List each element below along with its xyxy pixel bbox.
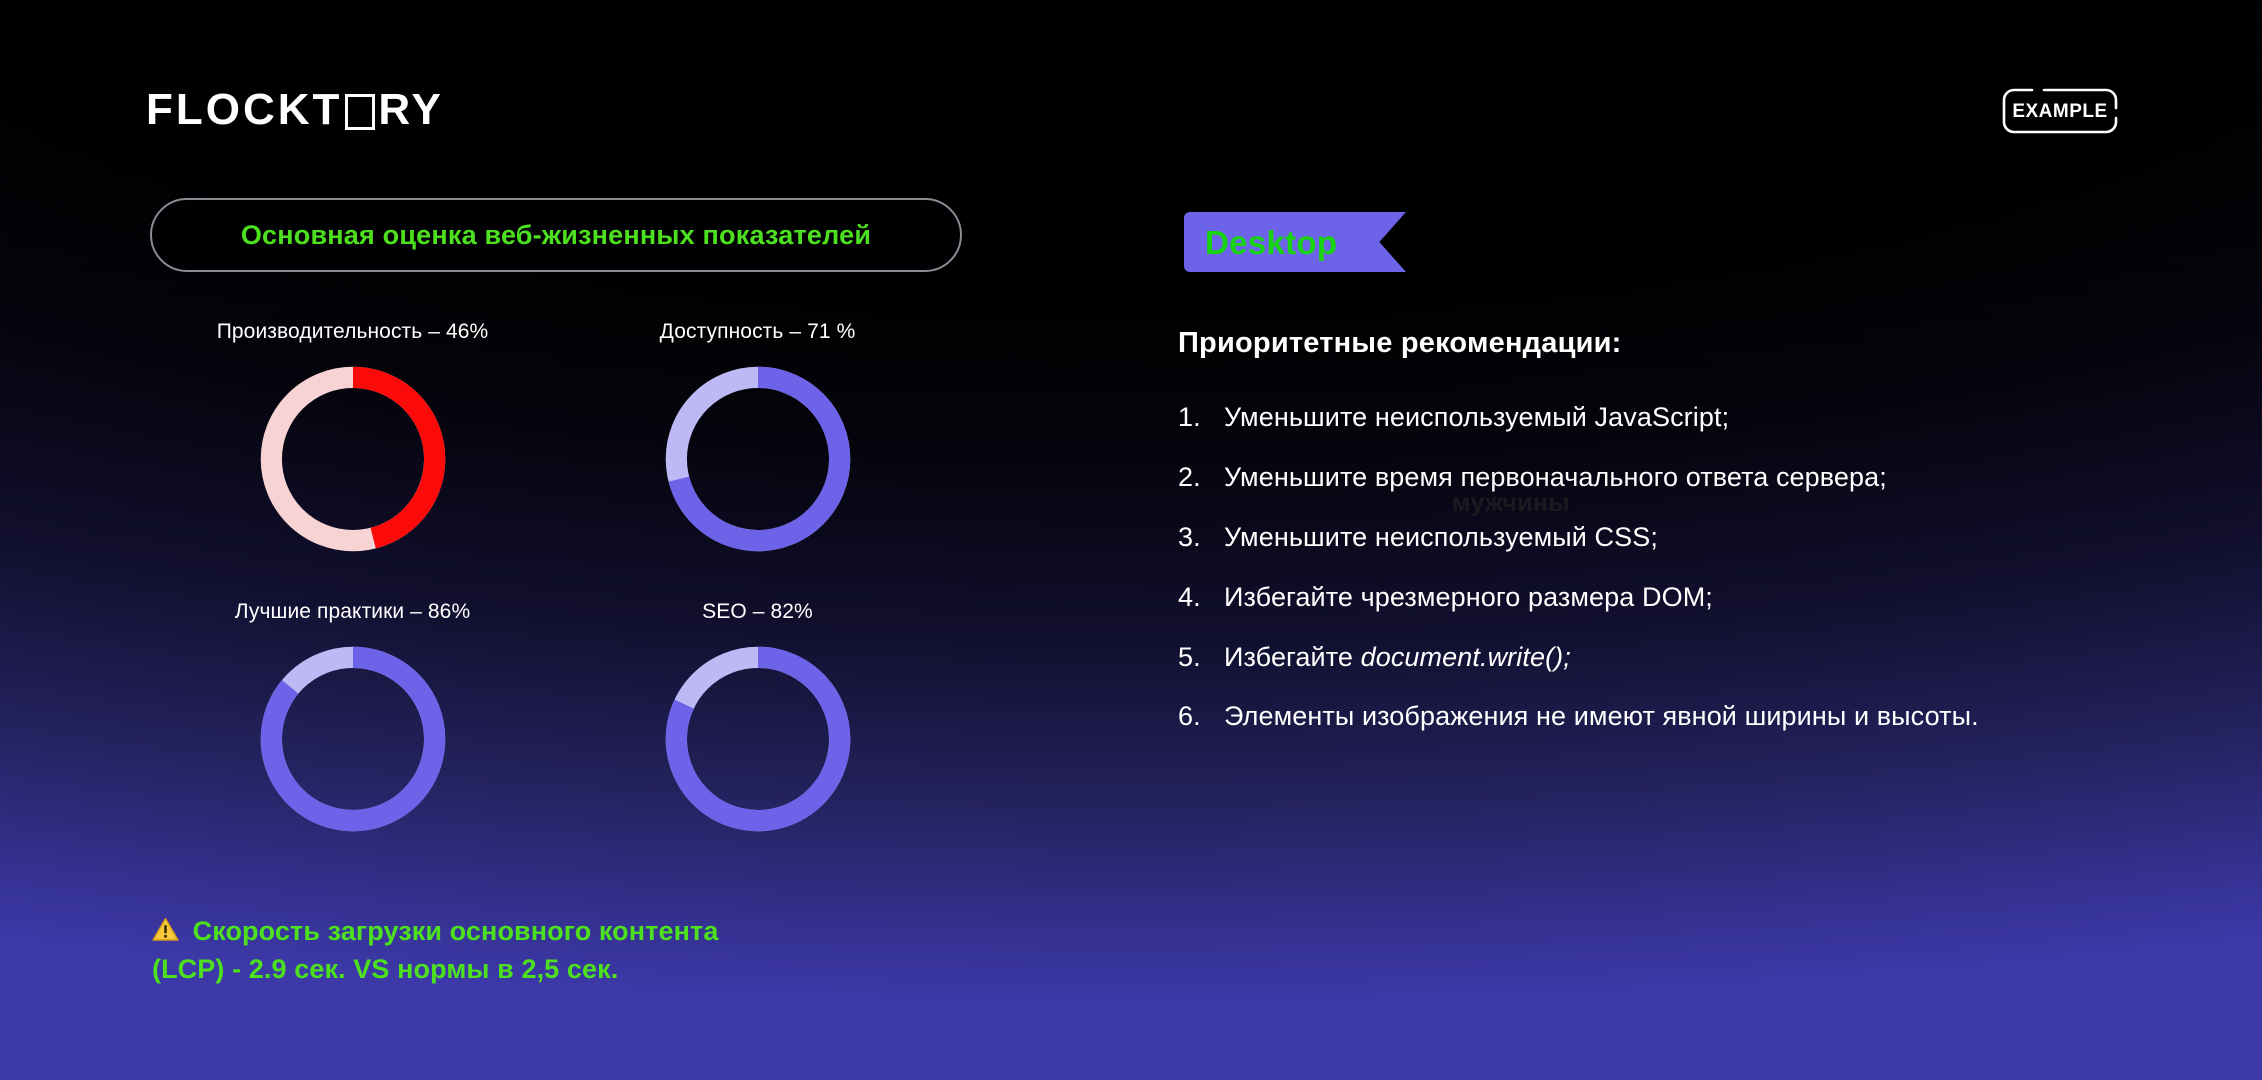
recommendation-number: 3. xyxy=(1178,518,1224,557)
metrics-row-top: Производительность – 46% Доступность – 7… xyxy=(150,320,960,557)
metric-label-accessibility: Доступность – 71 % xyxy=(660,320,856,344)
platform-badge-desktop: Desktop xyxy=(1184,212,1406,272)
flocktory-logo: FLOCKT RY xyxy=(146,88,444,132)
recommendations-heading: Приоритетные рекомендации: xyxy=(1178,327,1622,360)
logo-text-part1: FLOCKT xyxy=(146,88,342,132)
recommendation-text-plain: Уменьшите неиспользуемый CSS; xyxy=(1224,522,1658,552)
example-badge: EXAMPLE xyxy=(2002,88,2118,134)
warning-triangle-glyph xyxy=(152,917,179,942)
example-badge-label: EXAMPLE xyxy=(2012,102,2107,121)
recommendation-text-italic: document.write(); xyxy=(1361,642,1571,672)
donut-chart-performance xyxy=(255,361,451,557)
lcp-warning-line1: Скорость загрузки основного контента xyxy=(193,916,719,946)
metrics-row-bottom: Лучшие практики – 86% SEO – 82% xyxy=(150,600,960,837)
donut-chart-seo xyxy=(660,641,856,837)
recommendation-text: Уменьшите неиспользуемый CSS; xyxy=(1224,518,2138,557)
recommendation-item: 2.Уменьшите время первоначального ответа… xyxy=(1178,458,2138,497)
recommendation-number: 2. xyxy=(1178,458,1224,497)
recommendation-text: Уменьшите неиспользуемый JavaScript; xyxy=(1224,398,2138,437)
metric-label-seo: SEO – 82% xyxy=(702,600,813,624)
metric-label-best-practices: Лучшие практики – 86% xyxy=(235,600,470,624)
recommendations-list: 1.Уменьшите неиспользуемый JavaScript;2.… xyxy=(1178,398,2138,757)
recommendation-item: 1.Уменьшите неиспользуемый JavaScript; xyxy=(1178,398,2138,437)
recommendation-text: Избегайте document.write(); xyxy=(1224,638,2138,677)
donut-chart-accessibility xyxy=(660,361,856,557)
recommendation-text-plain: Избегайте xyxy=(1224,642,1361,672)
platform-badge-label: Desktop xyxy=(1184,226,1337,259)
metrics-donut-grid: Производительность – 46% Доступность – 7… xyxy=(150,320,960,837)
metric-card-best-practices: Лучшие практики – 86% xyxy=(150,600,555,837)
metric-label-performance: Производительность – 46% xyxy=(217,320,489,344)
recommendation-item: 3.Уменьшите неиспользуемый CSS; xyxy=(1178,518,2138,557)
square-o-glyph-icon xyxy=(345,94,375,130)
recommendation-text-plain: Уменьшите неиспользуемый JavaScript; xyxy=(1224,402,1729,432)
recommendation-text-plain: Избегайте чрезмерного размера DOM; xyxy=(1224,582,1713,612)
recommendation-text: Элементы изображения не имеют явной шири… xyxy=(1224,697,2138,736)
logo-text-part2: RY xyxy=(378,88,444,132)
slide-root: FLOCKT RY EXAMPLE Основная оценка веб-жи… xyxy=(0,0,2262,1080)
lcp-warning-line2: (LCP) - 2.9 сек. VS нормы в 2,5 сек. xyxy=(152,954,618,984)
recommendation-number: 5. xyxy=(1178,638,1224,677)
recommendation-number: 1. xyxy=(1178,398,1224,437)
lcp-warning: Скорость загрузки основного контента (LC… xyxy=(152,912,892,989)
recommendation-item: 4. Избегайте чрезмерного размера DOM; xyxy=(1178,578,2138,617)
metric-card-accessibility: Доступность – 71 % xyxy=(555,320,960,557)
recommendation-text: Избегайте чрезмерного размера DOM; xyxy=(1224,578,2138,617)
recommendation-item: 5.Избегайте document.write(); xyxy=(1178,638,2138,677)
donut-chart-best-practices xyxy=(255,641,451,837)
recommendation-item: 6.Элементы изображения не имеют явной ши… xyxy=(1178,697,2138,736)
recommendation-text: Уменьшите время первоначального ответа с… xyxy=(1224,458,2138,497)
recommendation-text-plain: Элементы изображения не имеют явной шири… xyxy=(1224,701,1979,731)
recommendation-number: 4. xyxy=(1178,578,1224,617)
core-web-vitals-title: Основная оценка веб-жизненных показателе… xyxy=(241,220,871,251)
recommendation-text-plain: Уменьшите время первоначального ответа с… xyxy=(1224,462,1887,492)
metric-card-seo: SEO – 82% xyxy=(555,600,960,837)
core-web-vitals-title-pill: Основная оценка веб-жизненных показателе… xyxy=(150,198,962,272)
warning-triangle-icon xyxy=(152,918,187,948)
metric-card-performance: Производительность – 46% xyxy=(150,320,555,557)
recommendation-number: 6. xyxy=(1178,697,1224,736)
